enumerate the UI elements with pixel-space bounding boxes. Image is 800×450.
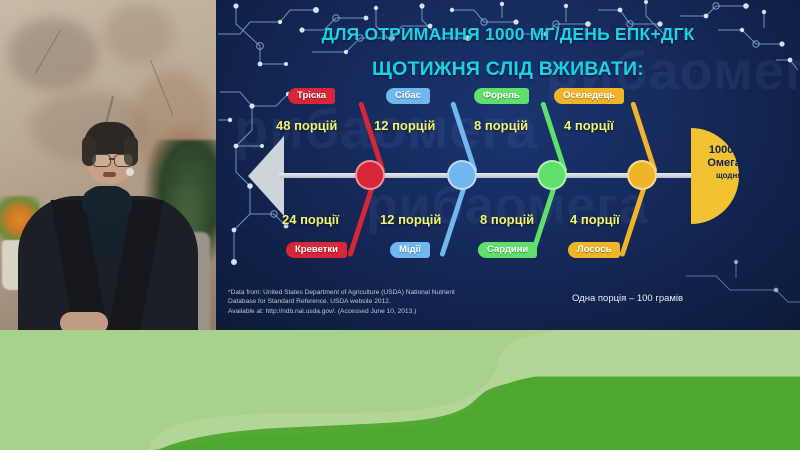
slide-title-line-1: ДЛЯ ОТРИМАННЯ 1000 МГ/ДЕНЬ ЕПК+ДГК	[216, 24, 800, 45]
wall-texture	[104, 4, 174, 64]
portions-sibas: 12 порцій	[374, 118, 435, 133]
speaker-mouth	[103, 172, 116, 177]
fish-label-sibas: Сібас	[386, 88, 430, 104]
portions-midii: 12 порцій	[380, 212, 441, 227]
slide-footnote: *Data from: United States Department of …	[228, 288, 455, 316]
eyeglasses-lens-left	[92, 154, 111, 167]
slide-watermark: рибаомега	[366, 176, 649, 236]
fish-label-triska: Тріска	[288, 88, 335, 104]
serving-size-note: Одна порція – 100 грамів	[572, 293, 683, 304]
fishbone-node-4	[627, 160, 657, 190]
fish-label-krevetky: Креветки	[286, 242, 347, 258]
sponsor-bar: АСОЦІАЦІЯ ДІЄТОЛОГІВ У К Р А Ї Н И Група…	[0, 330, 800, 450]
portions-triska: 48 порцій	[276, 118, 337, 133]
screen-root: рибаомега рибаомега рибаомега	[0, 0, 800, 450]
bone-bottom-2	[439, 185, 467, 257]
fishbone-spine	[278, 173, 728, 178]
portions-losos: 4 порції	[570, 212, 620, 227]
green-wave-decoration	[0, 330, 800, 450]
portions-oseledets: 4 порції	[564, 118, 614, 133]
fish-label-losos: Лосось	[568, 242, 620, 258]
fish-label-sardyny: Сардини	[478, 242, 537, 258]
omega3-name: Омега-3	[686, 157, 772, 170]
omega3-dose: 1000 мг	[686, 144, 772, 157]
bone-bottom-4	[619, 185, 647, 257]
fishbone-node-3	[537, 160, 567, 190]
eyeglasses-lens-right	[114, 154, 133, 167]
omega3-frequency: щодня	[686, 171, 772, 180]
turtleneck-collar	[82, 188, 132, 218]
fish-label-midii: Мідії	[390, 242, 430, 258]
speaker-video-feed	[0, 0, 216, 330]
fishbone-node-1	[355, 160, 385, 190]
portions-sardyny: 8 порцій	[480, 212, 534, 227]
fish-label-forel: Форель	[474, 88, 529, 104]
presentation-slide: рибаомега рибаомега рибаомега	[216, 0, 800, 330]
portions-krevetky: 24 порції	[282, 212, 339, 227]
wall-texture	[8, 18, 98, 90]
omega3-result-text: 1000 мг Омега-3 щодня	[686, 144, 772, 180]
eyeglasses-bridge	[109, 158, 114, 160]
bone-bottom-1	[347, 185, 375, 257]
speaker-hand	[60, 312, 108, 330]
fish-label-oseledets: Оселедець	[554, 88, 624, 104]
slide-title-line-2: ЩОТИЖНЯ СЛІД ВЖИВАТИ:	[216, 58, 800, 81]
lapel-microphone	[126, 168, 134, 176]
fishbone-node-2	[447, 160, 477, 190]
portions-forel: 8 порцій	[474, 118, 528, 133]
